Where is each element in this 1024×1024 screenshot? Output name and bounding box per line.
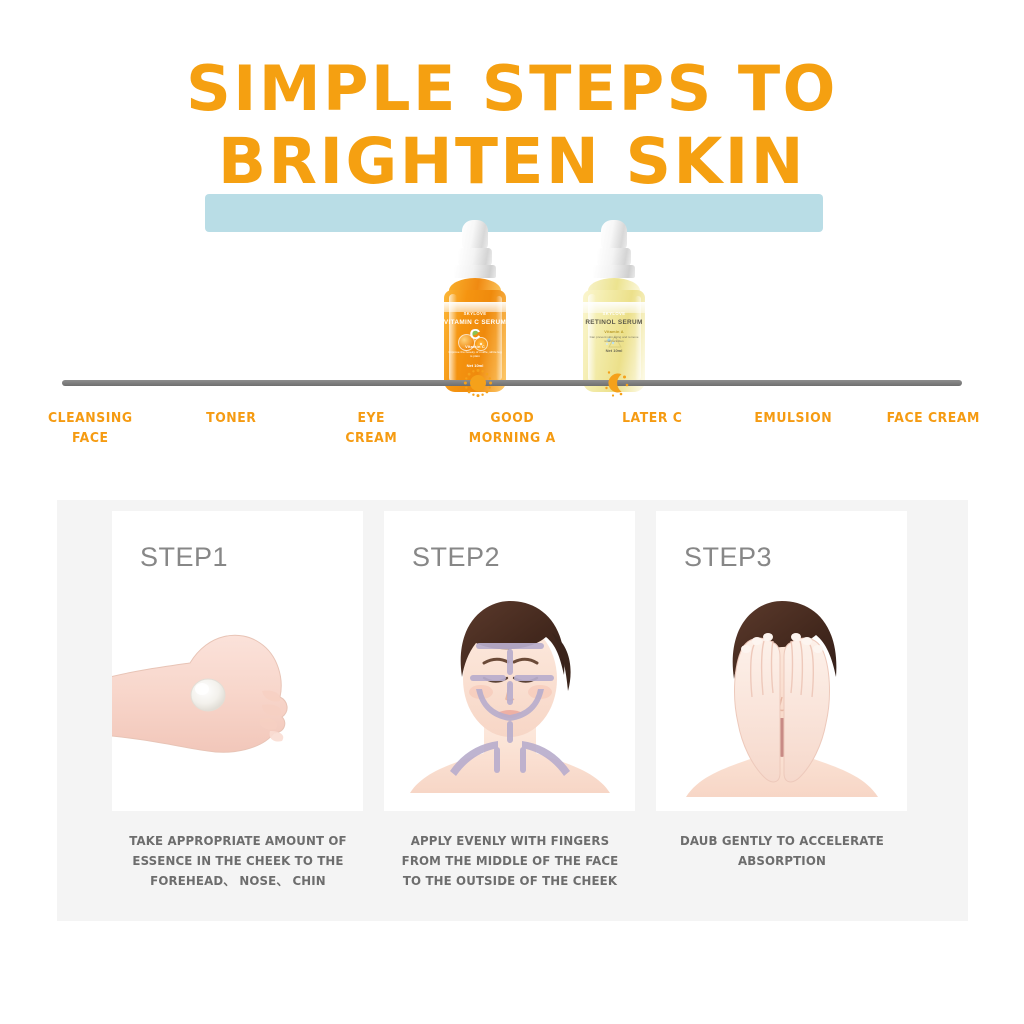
dropper-collar-icon <box>593 265 635 278</box>
timeline-label-face-cream[interactable]: FACE CREAM <box>869 409 998 429</box>
dropper-collar-icon <box>454 265 496 278</box>
dropper-bulb-icon <box>462 220 488 250</box>
step-1-title: STEP1 <box>140 542 228 573</box>
routine-step-labels: CLEANSING FACE TONER EYE CREAM GOOD MORN… <box>20 409 1004 448</box>
timeline-label-cleansing-face[interactable]: CLEANSING FACE <box>26 409 155 448</box>
step-3-caption: DAUB GENTLY TO ACCELERATE ABSORPTION <box>663 831 901 871</box>
sun-icon <box>461 366 495 400</box>
product-name: RETINOL SERUM <box>585 319 642 326</box>
product-subtitle: Vitamin A <box>604 329 624 334</box>
product-description: Improve the beauty of muffle, white leg … <box>448 350 502 358</box>
title-line-1: SIMPLE STEPS TO <box>0 52 1024 125</box>
page-title: SIMPLE STEPS TO BRIGHTEN SKIN <box>0 52 1024 199</box>
routine-timeline-bar <box>62 380 962 386</box>
timeline-label-toner[interactable]: TONER <box>166 409 295 429</box>
product-subtitle: Vitamin C <box>465 344 485 349</box>
dropper-neck-icon <box>597 248 631 266</box>
title-highlight-band <box>205 194 823 232</box>
step-2-title: STEP2 <box>412 542 500 573</box>
timeline-label-later-c[interactable]: LATER C <box>588 409 717 429</box>
product-description: Can prevent skin aging and remove small … <box>587 335 641 343</box>
step-3-title: STEP3 <box>684 542 772 573</box>
dropper-neck-icon <box>458 248 492 266</box>
product-net-volume: Net 10ml <box>606 348 623 353</box>
step-card-3[interactable]: STEP3 <box>656 511 907 891</box>
step-1-caption: TAKE APPROPRIATE AMOUNT OF ESSENCE IN TH… <box>119 831 357 891</box>
step-1-illustration-area: STEP1 <box>112 511 363 811</box>
step-card-2[interactable]: STEP2 <box>384 511 635 891</box>
application-steps-panel: STEP1 <box>57 500 968 921</box>
hands-pressing-face-icon <box>656 571 907 811</box>
timeline-label-good-morning-a[interactable]: GOOD MORNING A <box>447 409 576 448</box>
face-with-application-arrows-icon <box>384 571 635 811</box>
timeline-label-eye-cream[interactable]: EYE CREAM <box>307 409 436 448</box>
brand-name: SKYLOVE <box>464 311 487 316</box>
step-card-1[interactable]: STEP1 <box>112 511 363 891</box>
step-2-illustration-area: STEP2 <box>384 511 635 811</box>
step-2-caption: APPLY EVENLY WITH FINGERS FROM THE MIDDL… <box>391 831 629 891</box>
product-name: VITAMIN C SERUM <box>444 319 506 326</box>
step-3-illustration-area: STEP3 <box>656 511 907 811</box>
hand-with-cream-drop-icon <box>112 571 363 811</box>
moon-icon <box>600 366 634 400</box>
brand-name: SKYLOVE <box>603 311 626 316</box>
product-big-letter: C <box>470 327 481 342</box>
dropper-bulb-icon <box>601 220 627 250</box>
title-line-2: BRIGHTEN SKIN <box>0 125 1024 199</box>
timeline-label-emulsion[interactable]: EMULSION <box>729 409 858 429</box>
